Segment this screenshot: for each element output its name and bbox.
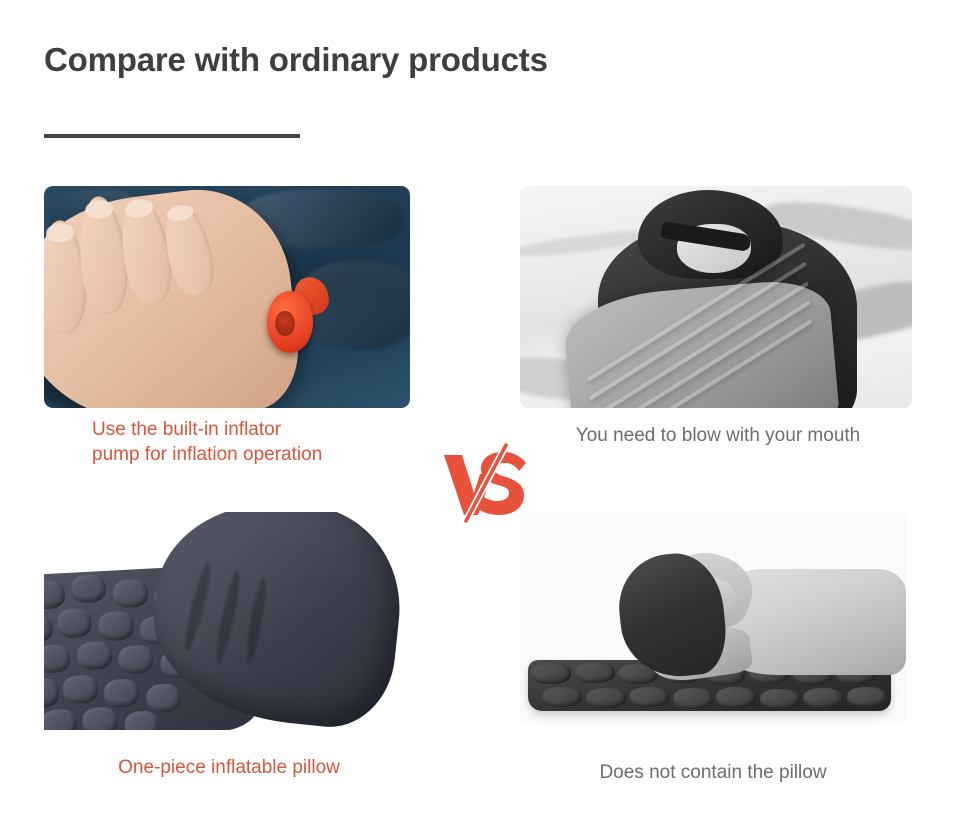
valve-cap: [267, 291, 313, 353]
baffle: [71, 574, 107, 604]
product-image-integrated-pillow: [44, 512, 414, 730]
baffle: [575, 662, 615, 682]
baffle: [629, 687, 669, 707]
baffle: [803, 688, 843, 708]
product-image-built-in-pump: [44, 186, 410, 408]
caption-ordinary-pillow: Does not contain the pillow: [520, 760, 906, 785]
baffle: [44, 644, 71, 674]
baffle: [44, 579, 66, 609]
fingernail: [165, 203, 195, 224]
baffle: [542, 687, 582, 707]
fingernail: [45, 223, 74, 243]
comparison-row-pillow-inclusion: One-piece inflatable pillow: [0, 512, 960, 812]
baffle: [847, 687, 887, 707]
baffle: [57, 608, 93, 638]
comparison-cell-ours-pillow: One-piece inflatable pillow: [44, 512, 424, 730]
comparison-cell-ordinary-pillow: Does not contain the pillow: [520, 512, 916, 724]
title-underline-rule: [44, 134, 300, 138]
baffle: [113, 578, 149, 608]
baffle: [98, 611, 134, 641]
valve-inner-ring: [275, 311, 294, 336]
photo-pad-with-pillow: [44, 512, 414, 730]
fingernail: [124, 197, 155, 219]
baffle: [531, 663, 571, 683]
baffle: [83, 706, 119, 730]
photo-hand-on-blue-mat: [44, 186, 410, 408]
baffle: [586, 688, 626, 708]
comparison-cell-ours-inflation: Use the built-in inflator pump for infla…: [44, 186, 424, 408]
baffle: [124, 710, 160, 730]
baffle: [77, 640, 113, 670]
comparison-infographic: Compare with ordinary products: [0, 0, 960, 840]
baffle: [44, 708, 77, 730]
caption-ours-pillow: One-piece inflatable pillow: [44, 755, 414, 780]
baffle: [716, 687, 756, 707]
baffle: [62, 674, 98, 704]
baffle: [44, 613, 54, 643]
product-image-no-pillow: [520, 512, 906, 724]
caption-ours-inflation: Use the built-in inflator pump for infla…: [92, 417, 322, 467]
product-image-mouth-inflation: [520, 186, 912, 408]
baffle: [146, 683, 182, 713]
photo-woman-lying-on-mat: [520, 512, 906, 724]
baffle: [44, 678, 59, 708]
baffle: [673, 688, 713, 708]
comparison-cell-ordinary-inflation: You need to blow with your mouth: [520, 186, 916, 408]
baffle: [760, 689, 800, 709]
inflator-valve: [267, 277, 326, 364]
baffle: [104, 678, 140, 708]
baffle: [118, 644, 154, 674]
caption-ordinary-inflation: You need to blow with your mouth: [520, 423, 916, 448]
comparison-row-inflation-method: Use the built-in inflator pump for infla…: [0, 186, 960, 476]
fingernail: [84, 199, 114, 220]
photo-man-blowing-in-snow: [520, 186, 912, 408]
page-title: Compare with ordinary products: [44, 41, 548, 79]
